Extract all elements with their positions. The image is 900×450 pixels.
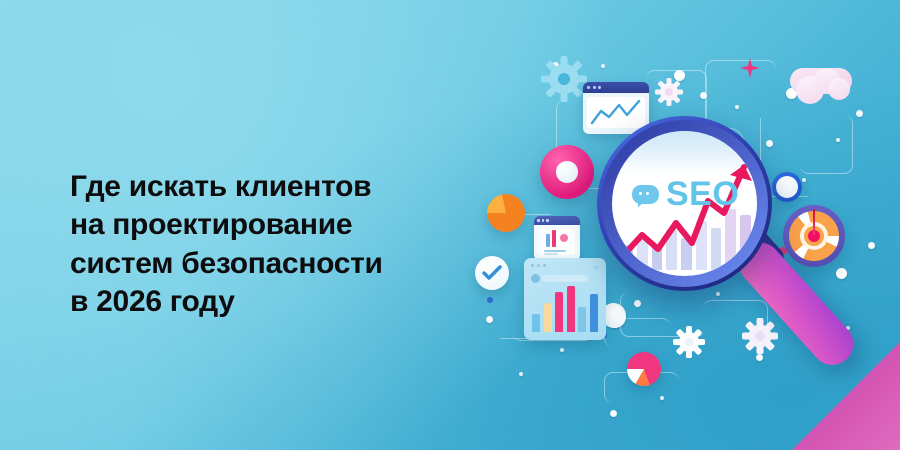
cloud-icon — [790, 68, 852, 110]
report-document-card[interactable] — [534, 216, 580, 260]
headline-line-2: на проектирование — [70, 206, 490, 244]
magnifier-seo-graphic: SEO — [597, 116, 772, 291]
clock-hand-minute — [782, 185, 787, 189]
seo-label-group: SEO — [632, 177, 739, 211]
dash-bar — [578, 307, 586, 332]
chat-bubble-icon — [632, 185, 659, 204]
dash-bar — [590, 294, 598, 332]
gear-icon-white-bottom — [673, 326, 705, 358]
seo-promo-banner: SEO Где искать клиентов на проектировани… — [0, 0, 900, 450]
doc-bar-2 — [552, 230, 556, 247]
headline-line-4: в 2026 году — [70, 283, 490, 321]
target-dartboard-icon — [783, 205, 845, 267]
clock-hand-hour — [786, 182, 792, 188]
headline-line-3: систем безопасности — [70, 245, 490, 283]
doc-card-content — [539, 229, 575, 255]
pink-pie-chart — [627, 352, 661, 386]
page-title: Где искать клиентов на проектирование си… — [70, 168, 490, 322]
target-needle — [813, 209, 815, 235]
magnifier-lens: SEO — [612, 131, 757, 276]
dash-bar — [555, 292, 563, 332]
pink-donut-chart — [540, 145, 594, 199]
seo-label: SEO — [666, 177, 739, 211]
dash-dots — [531, 264, 546, 267]
dash-avatar — [531, 274, 540, 283]
gear-icon-large-blue — [541, 56, 587, 102]
gear-icon-white-handle — [742, 318, 778, 354]
analytics-dashboard-card[interactable] — [524, 258, 606, 340]
headline-line-1: Где искать клиентов — [70, 168, 490, 206]
browser-titlebar — [583, 82, 649, 93]
doc-underline-2 — [544, 253, 558, 255]
dash-search-pill — [542, 275, 588, 282]
heart-icon — [560, 234, 568, 242]
bokeh-circle-g — [604, 306, 626, 328]
orange-pie-chart — [487, 194, 525, 232]
clock-timer-icon — [772, 172, 802, 202]
doc-card-titlebar — [534, 216, 580, 225]
doc-bar-1 — [546, 234, 550, 247]
doc-underline-1 — [544, 250, 566, 252]
dash-bar — [532, 314, 540, 332]
gear-icon-white-small — [655, 78, 683, 106]
dash-bar-chart — [532, 286, 598, 332]
dash-bar — [544, 303, 552, 332]
dash-bar — [567, 286, 575, 332]
